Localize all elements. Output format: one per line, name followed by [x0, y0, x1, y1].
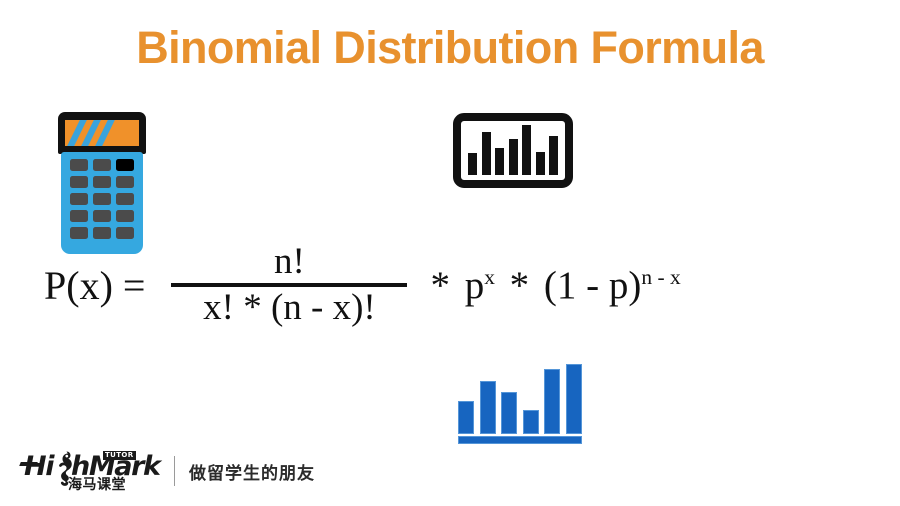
footer-tagline: 做留学生的朋友 [189, 459, 315, 484]
formula-term-q-exponent: n - x [641, 265, 680, 289]
formula-denominator: x! * (n - x)! [203, 287, 376, 328]
formula-operator-2: * [505, 264, 535, 307]
tablet-chart-bar [495, 148, 504, 175]
calculator-key [93, 159, 111, 171]
tablet-bar-chart-icon [453, 113, 573, 188]
calculator-key [93, 176, 111, 188]
tablet-chart-bar [468, 153, 477, 175]
logo-tutor-badge: TUTOR [103, 451, 136, 460]
formula-term-p-exponent: x [484, 265, 495, 289]
calculator-keypad [70, 159, 134, 239]
formula-term-p-base: p [465, 264, 485, 307]
tablet-chart-bar [536, 152, 545, 175]
binomial-formula: P(x) = n! x! * (n - x)! * px * (1 - p)n … [44, 240, 856, 330]
bar-chart-bar [501, 392, 517, 434]
calculator-key [116, 210, 134, 222]
bar-chart-bars [458, 360, 582, 434]
calculator-key [70, 210, 88, 222]
tablet-chart-bar [509, 139, 518, 175]
footer-divider [174, 456, 175, 486]
formula-numerator: n! [274, 243, 305, 283]
bar-chart-bar [480, 381, 496, 434]
calculator-key [116, 176, 134, 188]
tablet-chart-bar [549, 136, 558, 175]
calculator-key [93, 227, 111, 239]
tablet-chart-bars [468, 125, 558, 175]
bar-chart [458, 358, 582, 444]
bar-chart-bar [544, 369, 560, 434]
tablet-chart-bar [482, 132, 491, 175]
calculator-key [70, 176, 88, 188]
calculator-key [70, 159, 88, 171]
tablet-chart-bar [522, 125, 531, 175]
calculator-key [70, 193, 88, 205]
calculator-key [93, 193, 111, 205]
page-title: Binomial Distribution Formula [0, 22, 900, 74]
formula-right-hand-side: * px * (1 - p)n - x [425, 263, 680, 308]
highmark-logo: HighMark TUTOR 海马课堂 [24, 450, 156, 492]
formula-fraction: n! x! * (n - x)! [171, 243, 407, 328]
logo-chinese-name: 海马课堂 [68, 474, 126, 494]
calculator-body [61, 152, 143, 254]
logo-wordmark-left: Hi [24, 451, 53, 482]
calculator-screen [65, 120, 139, 146]
calculator-bezel [58, 112, 146, 154]
bar-chart-bar [458, 401, 474, 434]
calculator-key [70, 227, 88, 239]
formula-operator-1: * [425, 264, 455, 307]
bar-chart-baseline [458, 436, 582, 444]
calculator-icon [58, 112, 146, 254]
bar-chart-bar [566, 364, 582, 434]
formula-left-hand-side: P(x) = [44, 262, 145, 309]
calculator-key [93, 210, 111, 222]
calculator-key-accent [116, 159, 134, 171]
footer-branding: HighMark TUTOR 海马课堂 做留学生的朋友 [24, 450, 315, 492]
formula-term-q-base: (1 - p) [544, 264, 641, 307]
calculator-key [116, 193, 134, 205]
bar-chart-bar [523, 410, 539, 434]
calculator-key [116, 227, 134, 239]
